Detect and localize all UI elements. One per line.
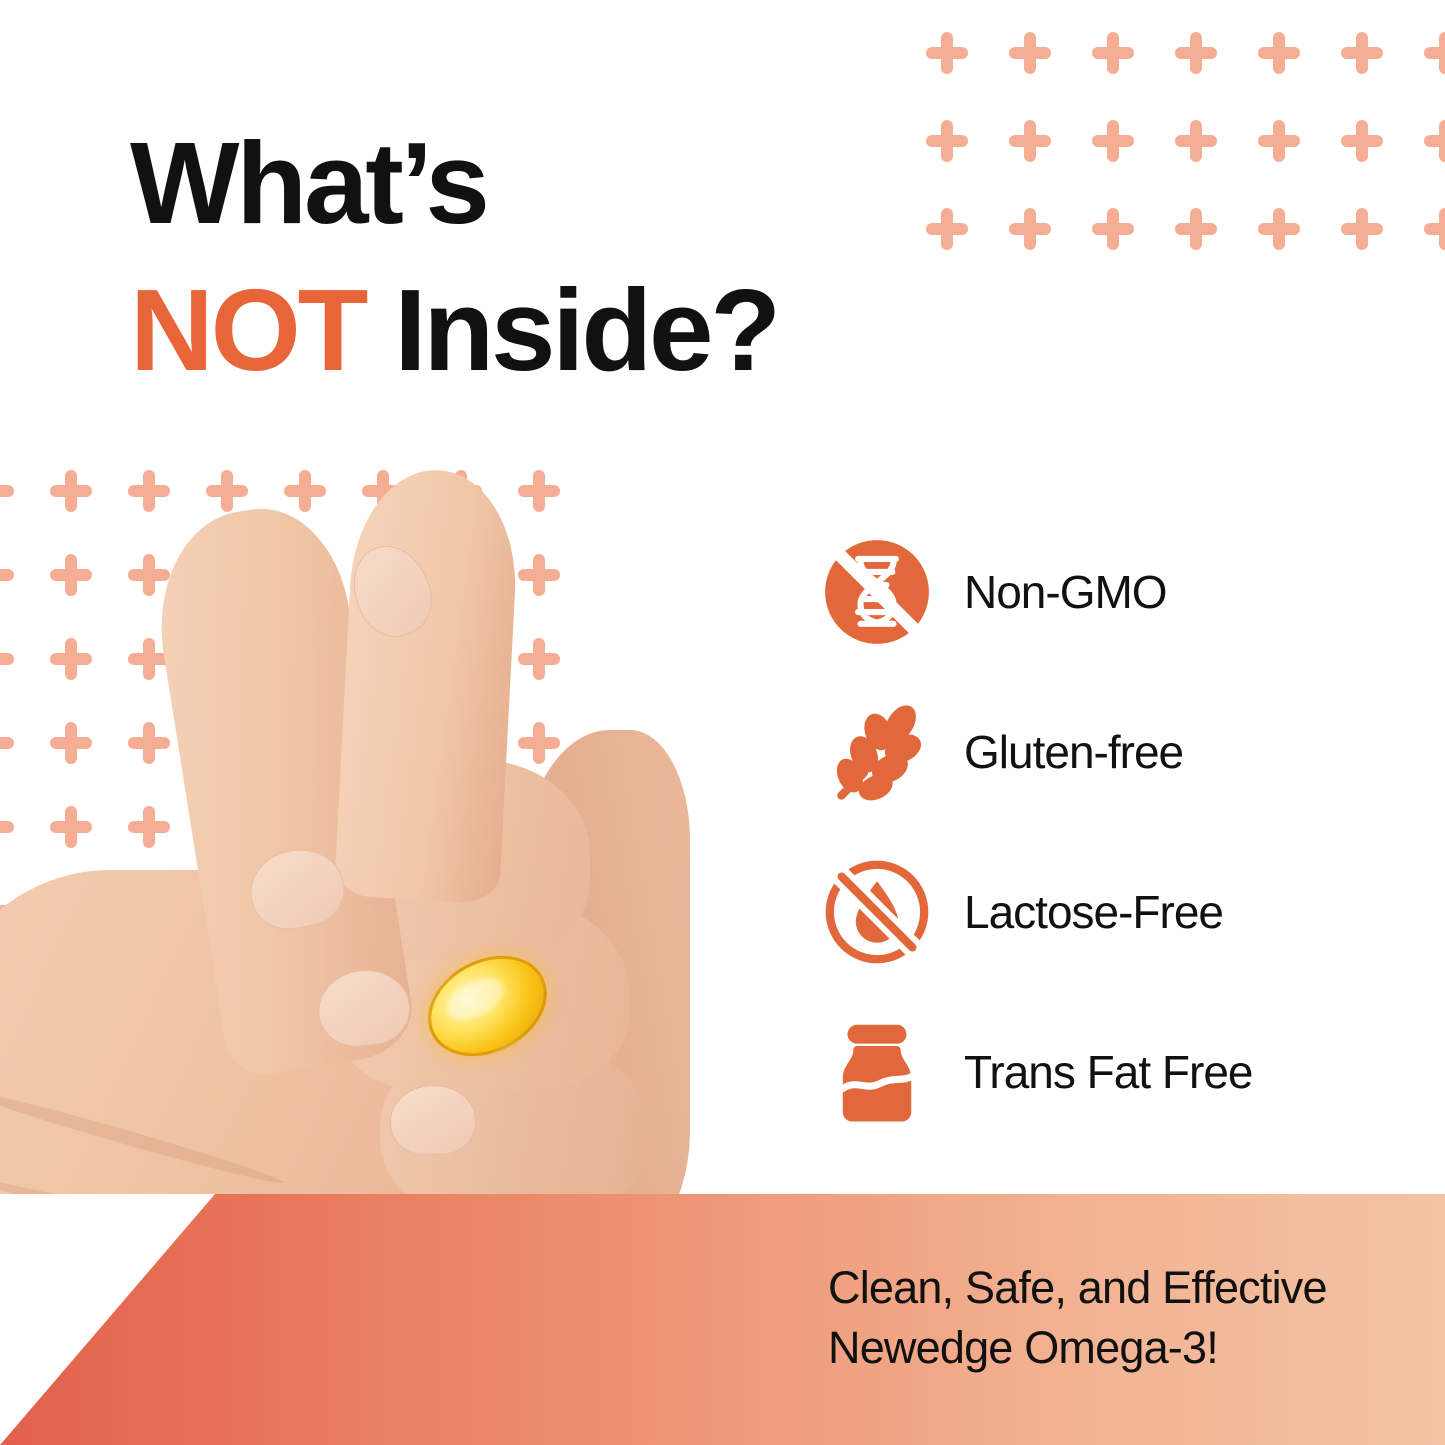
plus-icon (1424, 120, 1445, 162)
feature-item-trans-fat-free: Trans Fat Free (818, 992, 1378, 1152)
plus-icon (1341, 32, 1383, 74)
plus-icon (1424, 208, 1445, 250)
promo-canvas: What’s NOT Inside? (0, 0, 1445, 1445)
banner-tagline-line-2: Newedge Omega-3! (828, 1318, 1428, 1378)
cross-pattern-top-right (926, 16, 1445, 266)
no-gmo-dna-icon (818, 533, 936, 651)
plus-icon (1092, 120, 1134, 162)
milk-bottle-trans-fat-icon (818, 1013, 936, 1131)
wheat-gluten-free-icon (818, 693, 936, 811)
plus-icon (1258, 208, 1300, 250)
plus-icon (926, 32, 968, 74)
plus-icon (1175, 32, 1217, 74)
feature-label: Gluten-free (964, 725, 1183, 779)
feature-item-non-gmo: Non-GMO (818, 512, 1378, 672)
headline-line-1: What’s (130, 118, 487, 248)
plus-icon (1341, 208, 1383, 250)
plus-icon (926, 208, 968, 250)
plus-icon (1009, 120, 1051, 162)
feature-list: Non-GMO Gluten-free (818, 512, 1378, 1152)
feature-label: Lactose-Free (964, 885, 1223, 939)
plus-icon (1009, 32, 1051, 74)
banner-tagline-line-1: Clean, Safe, and Effective (828, 1258, 1428, 1318)
no-lactose-droplet-icon (818, 853, 936, 971)
feature-label: Non-GMO (964, 565, 1167, 619)
plus-icon (1258, 32, 1300, 74)
plus-icon (1424, 32, 1445, 74)
plus-icon (1175, 120, 1217, 162)
headline-emphasis-not: NOT (130, 265, 365, 395)
plus-icon (1092, 32, 1134, 74)
plus-icon (926, 120, 968, 162)
banner-tagline: Clean, Safe, and Effective Newedge Omega… (828, 1258, 1428, 1378)
plus-icon (1258, 120, 1300, 162)
page-title: What’s NOT Inside? (130, 110, 910, 405)
plus-icon (1092, 208, 1134, 250)
plus-icon (1341, 120, 1383, 162)
hand-index-finger (334, 466, 521, 904)
feature-item-lactose-free: Lactose-Free (818, 832, 1378, 992)
banner-angled-cutout (0, 1194, 620, 1445)
plus-icon (1175, 208, 1217, 250)
plus-icon (1009, 208, 1051, 250)
headline-line-2-rest: Inside? (365, 265, 778, 395)
feature-label: Trans Fat Free (964, 1045, 1252, 1099)
feature-item-gluten-free: Gluten-free (818, 672, 1378, 832)
